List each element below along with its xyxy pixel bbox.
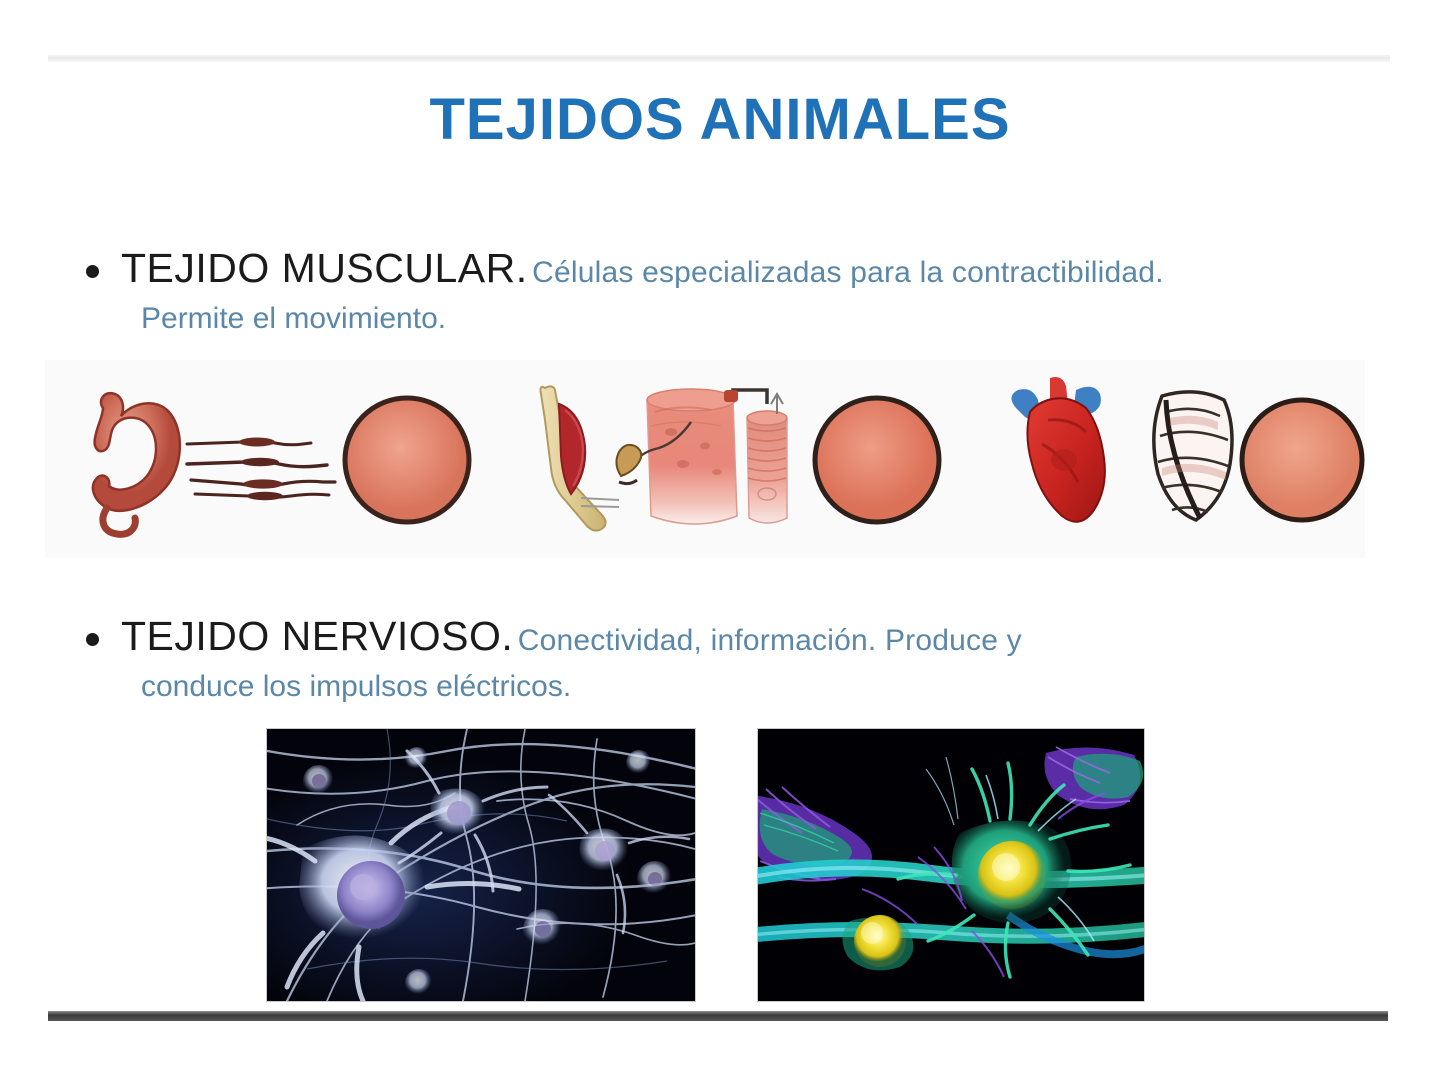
cardiac-muscle-illustration [990, 360, 1365, 558]
skeletal-muscle-micrograph-icon [815, 398, 955, 522]
top-divider-rule [48, 55, 1390, 62]
bullet-dot-icon [86, 633, 99, 646]
skeletal-muscle-illustration [515, 360, 965, 558]
smooth-muscle-micrograph-icon [345, 398, 469, 522]
muscle-fiber-icon [747, 394, 787, 523]
neuron-network-illustration [267, 729, 695, 1001]
smooth-muscle-illustration [45, 360, 495, 558]
bullet-line-primary: TEJIDO MUSCULAR. Células especializadas … [86, 245, 1376, 292]
muscle-bundle-diagram-icon [616, 389, 767, 524]
bullet-description-continued: conduce los impulsos eléctricos. [141, 670, 1376, 704]
bullet-dot-icon [86, 265, 99, 278]
smooth-muscle-fibers-icon [187, 438, 335, 501]
bullet-description: Células especializadas para la contracti… [532, 256, 1164, 289]
slide: TEJIDOS ANIMALES TEJIDO MUSCULAR. Célula… [0, 0, 1440, 1080]
bullet-tejido-muscular: TEJIDO MUSCULAR. Células especializadas … [86, 245, 1376, 336]
skeletal-muscle-group [515, 360, 965, 558]
page-title: TEJIDOS ANIMALES [0, 86, 1440, 153]
muscular-tissue-figure-strip [45, 360, 1365, 558]
bottom-divider-rule [48, 1011, 1388, 1021]
heart-organ-icon [1011, 377, 1104, 522]
cardiac-muscle-micrograph-icon [1242, 400, 1362, 520]
stomach-organ-icon [93, 393, 180, 534]
bullet-tejido-nervioso: TEJIDO NERVIOSO. Conectividad, informaci… [86, 613, 1376, 704]
neuron-network-photo [266, 728, 696, 1002]
smooth-muscle-group [45, 360, 495, 558]
bullet-line-primary: TEJIDO NERVIOSO. Conectividad, informaci… [86, 613, 1376, 660]
nervous-tissue-figure-row [0, 728, 1440, 1006]
bullet-heading: TEJIDO MUSCULAR. [121, 245, 528, 291]
bullet-heading: TEJIDO NERVIOSO. [121, 613, 513, 659]
neuron-fluorescence-photo [757, 728, 1145, 1002]
bullet-description-continued: Permite el movimiento. [141, 302, 1376, 336]
neuron-fluorescence-illustration [758, 729, 1144, 1001]
cardiac-fiber-direction-icon [1154, 392, 1232, 520]
bullet-description: Conectividad, información. Produce y [518, 624, 1022, 657]
cardiac-muscle-group [990, 360, 1365, 558]
bone-with-muscle-icon [541, 386, 620, 530]
